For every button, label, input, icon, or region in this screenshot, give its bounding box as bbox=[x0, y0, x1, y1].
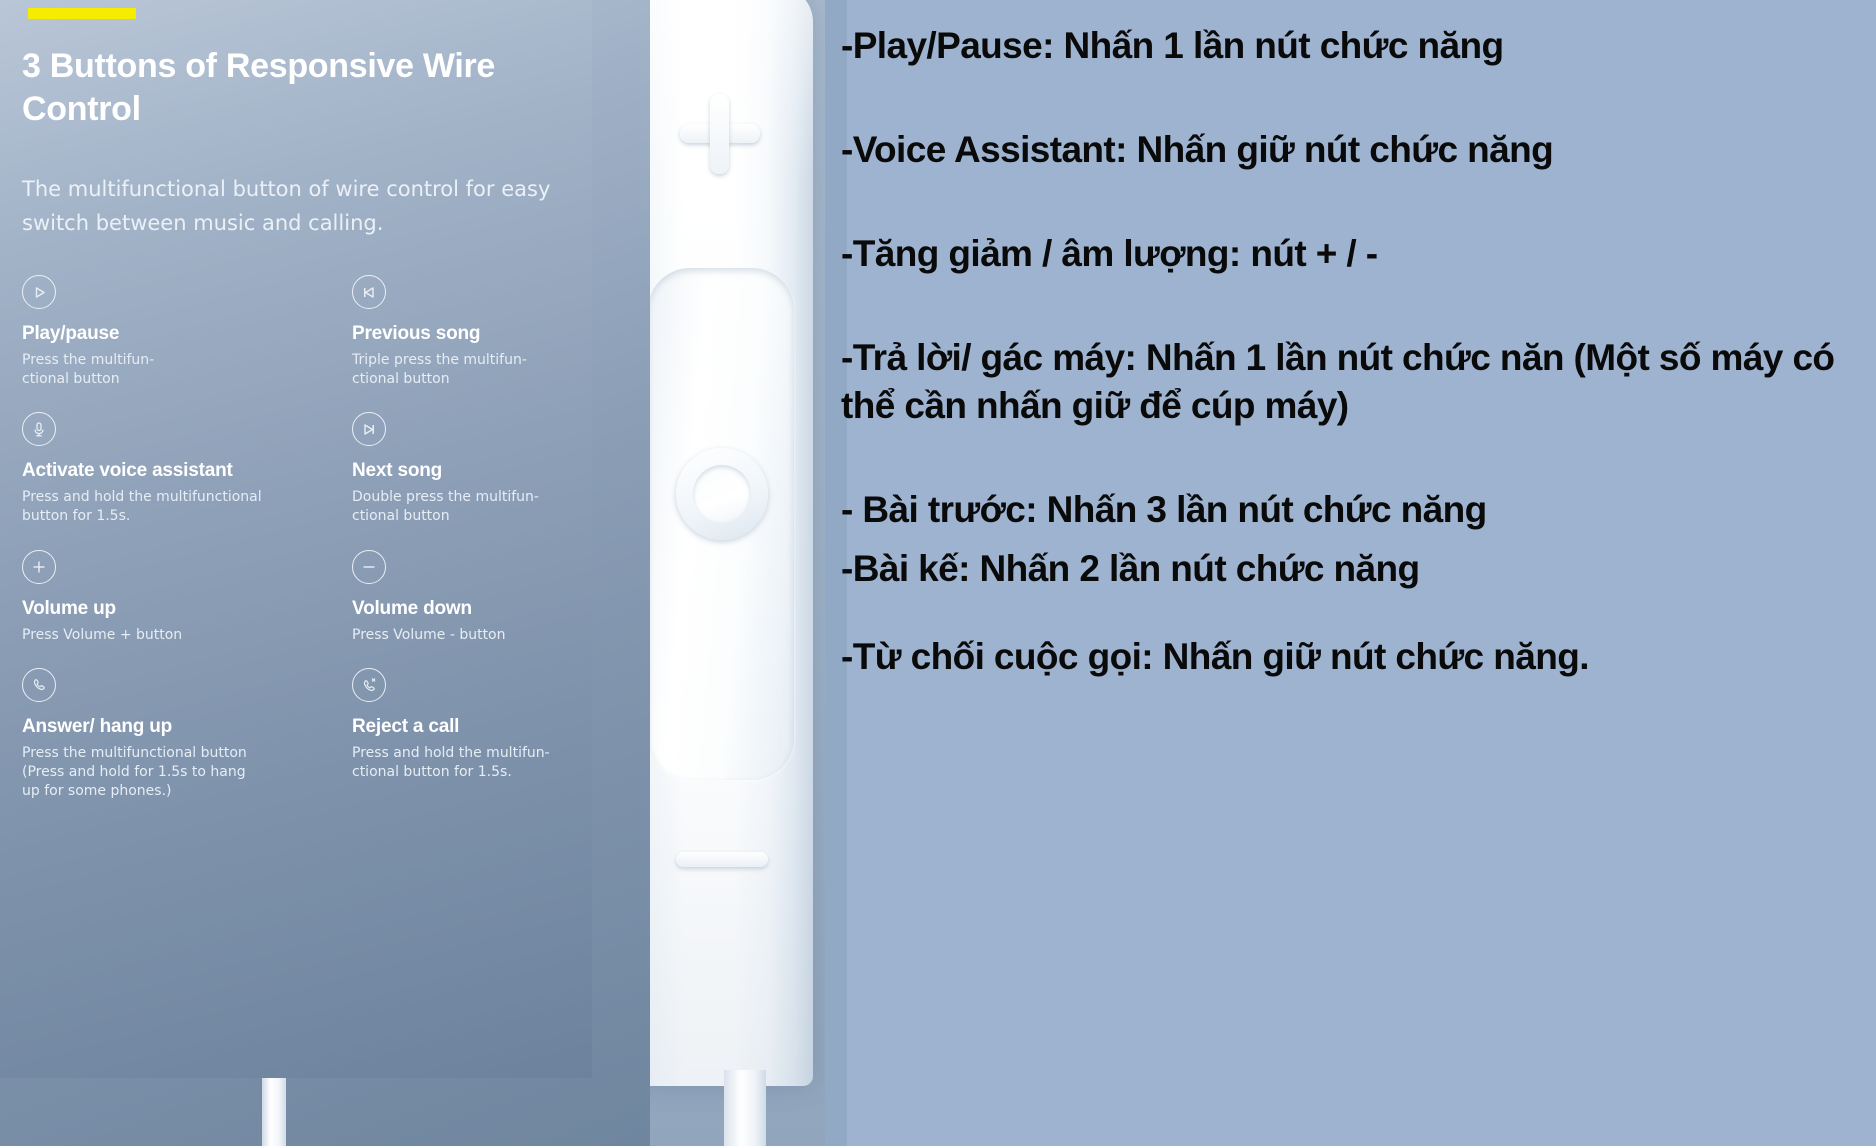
spacer bbox=[835, 278, 1876, 334]
feature-volume-up: Volume up Press Volume + button bbox=[22, 550, 352, 645]
phone-circle-icon bbox=[22, 668, 56, 702]
infographic-stage: 3 Buttons of Responsive Wire Control The… bbox=[0, 0, 1876, 1146]
feature-title: Activate voice assistant bbox=[22, 460, 352, 482]
note-voice-assistant: -Voice Assistant: Nhấn giữ nút chức năng bbox=[835, 126, 1876, 174]
feature-desc: Press and hold the multifunctional butto… bbox=[22, 488, 352, 526]
multifunction-button-pad[interactable] bbox=[650, 268, 794, 780]
note-reject-call: -Từ chối cuộc gọi: Nhấn giữ nút chức năn… bbox=[835, 633, 1876, 681]
feature-previous-song: Previous song Triple press the multifun-… bbox=[352, 275, 582, 388]
feature-reject-call: Reject a call Press and hold the multifu… bbox=[352, 668, 582, 800]
feature-title: Next song bbox=[352, 460, 582, 482]
wire-control-remote bbox=[650, 0, 813, 1086]
feature-row: Play/pause Press the multifun- ctional b… bbox=[22, 275, 582, 388]
feature-title: Previous song bbox=[352, 323, 582, 345]
feature-voice-assistant: Activate voice assistant Press and hold … bbox=[22, 412, 352, 525]
yellow-accent-bar bbox=[28, 8, 136, 19]
note-play-pause: -Play/Pause: Nhấn 1 lần nút chức năng bbox=[835, 22, 1876, 70]
feature-row: Activate voice assistant Press and hold … bbox=[22, 412, 582, 525]
feature-title: Reject a call bbox=[352, 716, 582, 738]
note-answer-hangup: -Trả lời/ gác máy: Nhấn 1 lần nút chức n… bbox=[835, 334, 1876, 430]
feature-volume-down: Volume down Press Volume - button bbox=[352, 550, 582, 645]
feature-desc: Press Volume - button bbox=[352, 626, 582, 645]
plus-circle-icon bbox=[22, 550, 56, 584]
note-volume: -Tăng giảm / âm lượng: nút + / - bbox=[835, 230, 1876, 278]
vietnamese-notes-panel: -Play/Pause: Nhấn 1 lần nút chức năng -V… bbox=[825, 0, 1876, 1146]
feature-grid: Play/pause Press the multifun- ctional b… bbox=[22, 275, 582, 824]
play-circle-icon bbox=[22, 275, 56, 309]
page-subtitle: The multifunctional button of wire contr… bbox=[22, 172, 582, 240]
feature-title: Play/pause bbox=[22, 323, 352, 345]
multifunction-button[interactable] bbox=[676, 448, 768, 540]
feature-next-song: Next song Double press the multifun- cti… bbox=[352, 412, 582, 525]
feature-desc: Double press the multifun- ctional butto… bbox=[352, 488, 582, 526]
spacer bbox=[835, 593, 1876, 633]
volume-up-button[interactable] bbox=[680, 94, 760, 174]
notes-list: -Play/Pause: Nhấn 1 lần nút chức năng -V… bbox=[835, 8, 1876, 1146]
earphone-cable-center bbox=[724, 1070, 766, 1146]
feature-title: Answer/ hang up bbox=[22, 716, 352, 738]
spacer bbox=[835, 70, 1876, 126]
left-info-panel: 3 Buttons of Responsive Wire Control The… bbox=[0, 0, 650, 1146]
page-title: 3 Buttons of Responsive Wire Control bbox=[22, 45, 562, 130]
note-previous-song: - Bài trước: Nhấn 3 lần nút chức năng bbox=[835, 486, 1876, 534]
minus-circle-icon bbox=[352, 550, 386, 584]
microphone-circle-icon bbox=[22, 412, 56, 446]
feature-row: Volume up Press Volume + button Volume d… bbox=[22, 550, 582, 645]
note-next-song: -Bài kế: Nhấn 2 lần nút chức năng bbox=[835, 545, 1876, 593]
left-info-card: 3 Buttons of Responsive Wire Control The… bbox=[0, 0, 592, 1078]
spacer bbox=[835, 430, 1876, 486]
feature-desc: Press the multifunctional button (Press … bbox=[22, 744, 352, 800]
feature-row: Answer/ hang up Press the multifunctiona… bbox=[22, 668, 582, 800]
feature-title: Volume down bbox=[352, 598, 582, 620]
plus-vertical-bar bbox=[710, 94, 729, 174]
feature-title: Volume up bbox=[22, 598, 352, 620]
previous-track-circle-icon bbox=[352, 275, 386, 309]
spacer bbox=[835, 535, 1876, 545]
feature-play-pause: Play/pause Press the multifun- ctional b… bbox=[22, 275, 352, 388]
product-photo-panel bbox=[650, 0, 825, 1146]
multifunction-button-inner bbox=[693, 465, 751, 523]
feature-answer-hangup: Answer/ hang up Press the multifunctiona… bbox=[22, 668, 352, 800]
feature-desc: Press the multifun- ctional button bbox=[22, 351, 352, 389]
earphone-cable-left bbox=[262, 1078, 286, 1146]
feature-desc: Press Volume + button bbox=[22, 626, 352, 645]
feature-desc: Triple press the multifun- ctional butto… bbox=[352, 351, 582, 389]
volume-down-button[interactable] bbox=[676, 852, 768, 867]
phone-reject-circle-icon bbox=[352, 668, 386, 702]
spacer bbox=[835, 174, 1876, 230]
feature-desc: Press and hold the multifun- ctional but… bbox=[352, 744, 582, 782]
next-track-circle-icon bbox=[352, 412, 386, 446]
